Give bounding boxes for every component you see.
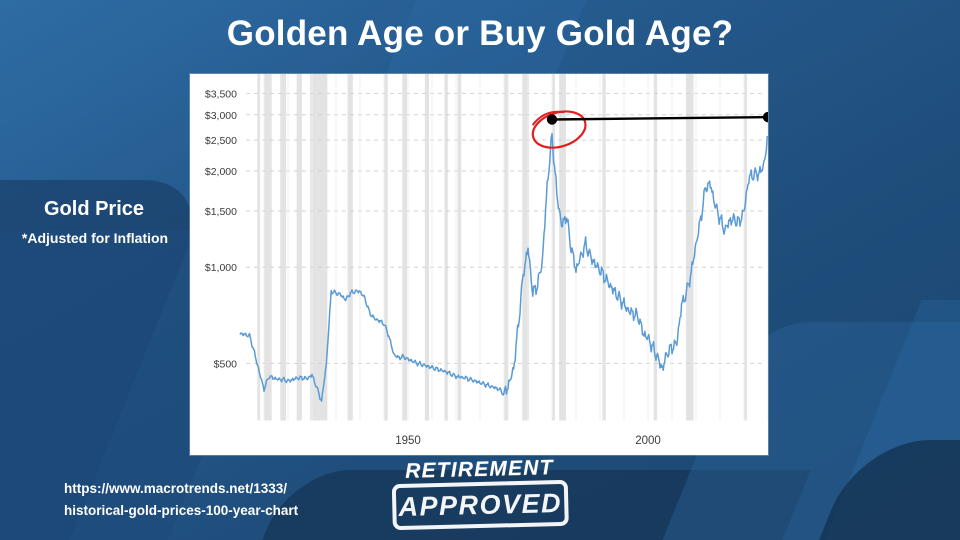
y-axis-tick-label: $1,500 [205, 206, 237, 218]
y-axis-tick-label: $2,000 [205, 166, 237, 178]
logo-word-retirement: RETIREMENT [391, 457, 567, 483]
recession-band [457, 74, 461, 421]
gold-price-line-chart[interactable]: $500$1,000$1,500$2,000$2,500$3,000$3,500… [190, 74, 768, 455]
recession-band [264, 74, 271, 421]
slide-canvas: Golden Age or Buy Gold Age? Gold Price *… [0, 0, 960, 540]
y-axis-tick-label: $2,500 [205, 135, 237, 147]
y-axis-tick-label: $3,500 [205, 88, 237, 100]
recession-band [280, 74, 286, 421]
chart-plot-background [190, 74, 768, 455]
recession-band [402, 74, 407, 421]
recession-band [744, 74, 747, 421]
recession-band [384, 74, 387, 421]
recession-band [686, 74, 694, 421]
x-axis-tick-label: 2000 [635, 435, 661, 447]
logo-word-approved: APPROVED [398, 490, 562, 521]
inflation-adjusted-note: *Adjusted for Inflation [0, 230, 190, 246]
decorative-diagonal-band [771, 440, 960, 540]
recession-band [552, 74, 555, 421]
recession-band [559, 74, 566, 421]
y-axis-tick-label: $3,000 [205, 110, 237, 122]
recession-band [297, 74, 302, 421]
source-url[interactable]: https://www.macrotrends.net/1333/ histor… [64, 478, 298, 522]
gold-price-label: Gold Price [0, 198, 188, 221]
y-axis-tick-label: $1,000 [205, 262, 237, 274]
recession-band [654, 74, 657, 421]
y-axis-tick-label: $500 [214, 358, 238, 370]
recession-band [602, 74, 605, 421]
recession-band [348, 74, 353, 421]
recession-band [425, 74, 429, 421]
recession-band [310, 74, 327, 421]
logo-stamp-box: APPROVED [392, 480, 569, 530]
recession-band [444, 74, 447, 421]
decorative-diagonal-band [788, 300, 960, 540]
retirement-approved-logo: RETIREMENT APPROVED [391, 457, 569, 529]
source-url-line-1: https://www.macrotrends.net/1333/ [64, 478, 298, 500]
x-axis-tick-label: 1950 [395, 435, 421, 447]
slide-title: Golden Age or Buy Gold Age? [0, 14, 960, 54]
source-url-line-2: historical-gold-prices-100-year-chart [64, 500, 298, 522]
chart-panel[interactable]: $500$1,000$1,500$2,000$2,500$3,000$3,500… [190, 74, 768, 455]
marker-1980-peak [547, 114, 557, 124]
